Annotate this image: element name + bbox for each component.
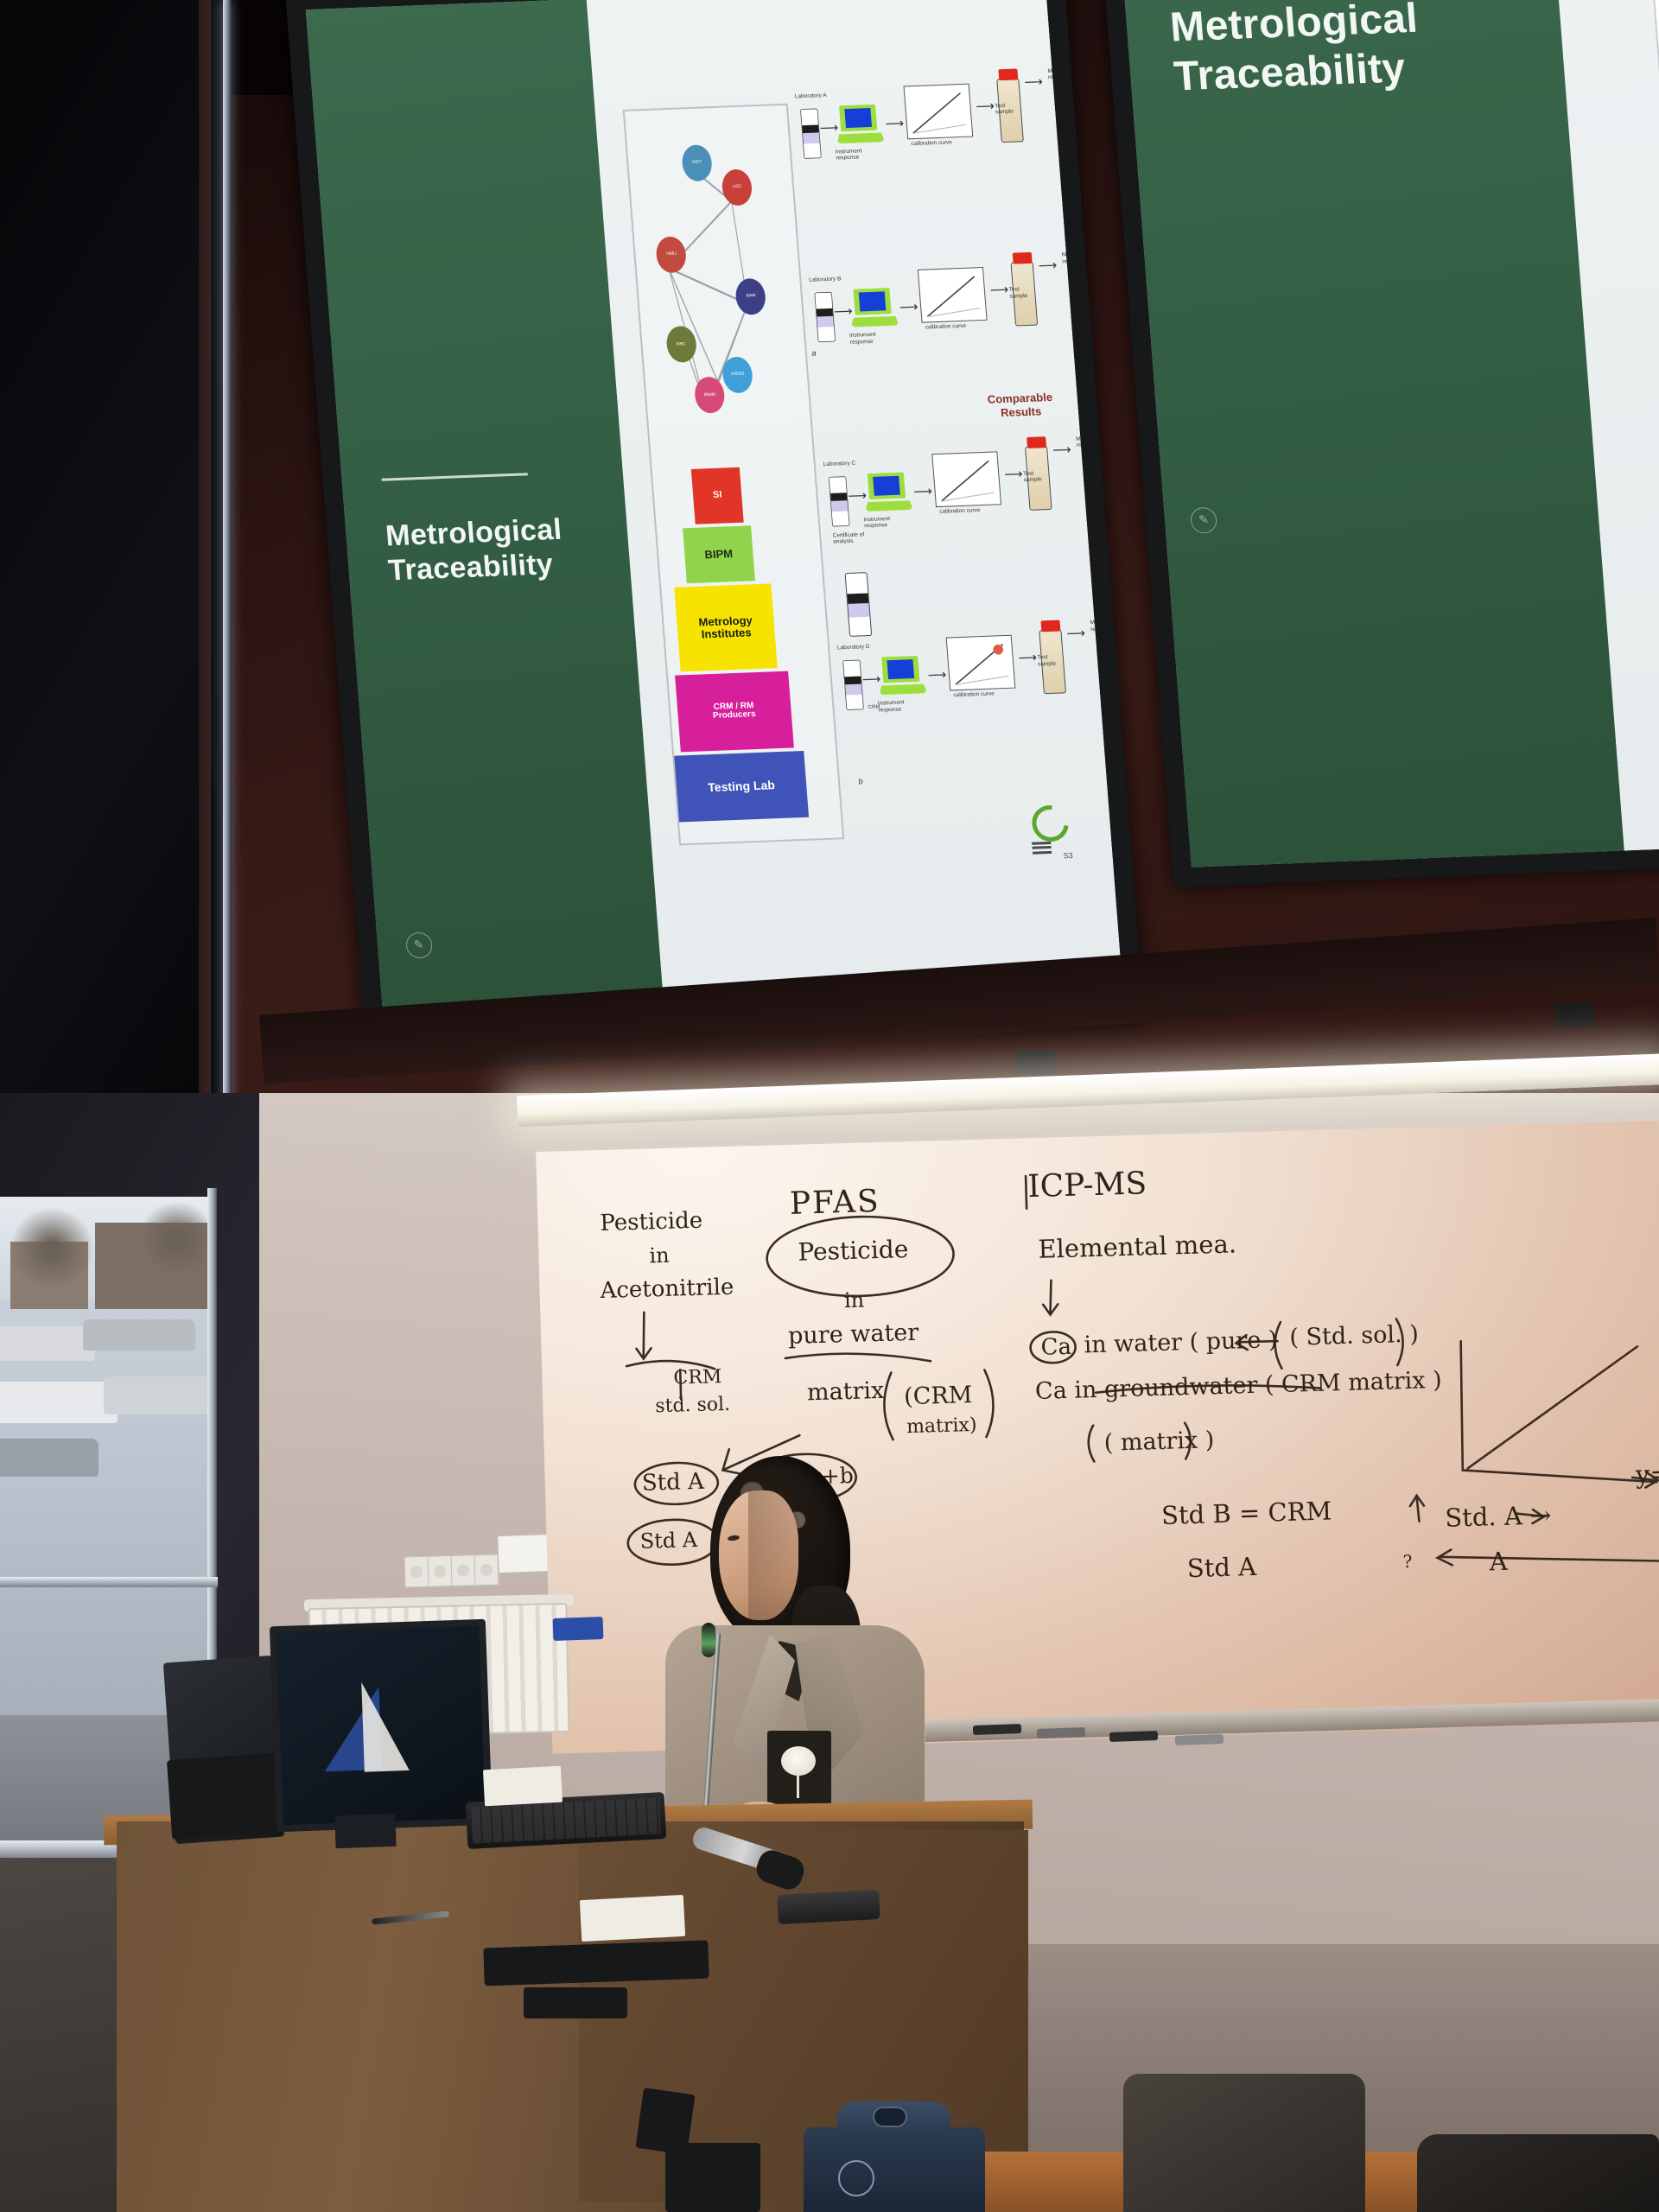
instrument-laptop: [878, 656, 925, 696]
slide-title-rule: [381, 473, 527, 480]
parked-car: [0, 1439, 99, 1477]
photo-scene: Metrological Traceability ✎: [0, 0, 1659, 2212]
test-sample-label: Test sample: [1009, 286, 1039, 300]
parked-car: [83, 1319, 195, 1351]
calibration-curve-label: calibration curve: [939, 506, 992, 515]
paper-sheet: [580, 1895, 685, 1942]
arrow-icon: ⟶: [1038, 259, 1058, 273]
instrument-laptop: [836, 104, 883, 143]
slide-diagram-area: NIST LGC NMIJ BAM NRC IRMM KRISS SI BIPM…: [587, 0, 1124, 1020]
parked-car: [0, 1326, 95, 1361]
comparable-results-callout: Comparable Results: [981, 391, 1060, 421]
arrow-icon: ⟶: [976, 99, 995, 113]
tree: [0, 1202, 104, 1297]
paper-sheet: [483, 1766, 563, 1807]
wall-label-sign: [497, 1534, 553, 1573]
arrow-icon: ⟶: [1066, 627, 1086, 641]
whiteboard-marker[interactable]: [973, 1724, 1021, 1735]
parked-car: [0, 1382, 118, 1423]
instrument-laptop: [849, 288, 897, 327]
whiteboard-marker[interactable]: [1037, 1727, 1085, 1738]
face-shading: [748, 1491, 800, 1620]
lab-label: Laboratory B: [809, 276, 842, 284]
slide-right: Metrological Traceability ✎ Testing Lab: [1116, 0, 1659, 868]
lab-sample-vial: [829, 476, 850, 526]
arrow-icon: ⟶: [1018, 652, 1038, 665]
instrument-response-label: instrument response: [878, 699, 927, 714]
arrow-icon: ⟶: [913, 485, 933, 499]
arrow-icon: ⟶: [1004, 467, 1024, 481]
slide-title-right: Metrological Traceability: [1168, 0, 1423, 102]
window-upper-glass: [0, 0, 200, 1162]
logo-caption: S3: [1063, 851, 1073, 860]
slide-green-band-right: Metrological Traceability ✎: [1116, 0, 1624, 868]
presenter-remote[interactable]: [777, 1890, 880, 1924]
lab-flow-row: Laboratory D ⟶ instrument response ⟶ cal…: [837, 614, 1102, 728]
presentation-logo-icon: S3: [1031, 804, 1070, 842]
pyramid-level-crm-producers: CRM / RM Producers: [675, 671, 794, 753]
lab-sample-vial: [842, 660, 864, 710]
arrow-icon: ⟶: [899, 301, 918, 315]
traceability-pyramid-right: Testing Lab: [1645, 0, 1659, 455]
pyramid-level-testing-lab: Testing Lab: [674, 751, 809, 822]
nmi-network-graph: NIST LGC NMIJ BAM NRC IRMM KRISS: [640, 136, 801, 463]
test-sample-label: Test sample: [1023, 470, 1053, 484]
whiteboard-marker[interactable]: [1109, 1731, 1158, 1742]
arrow-icon: ⟶: [1024, 75, 1044, 89]
lab-flow-row: Laboratory A ⟶ instrument response ⟶ cal…: [795, 63, 1059, 176]
radiator-blue-object: [553, 1617, 604, 1641]
university-seal-icon: [838, 2160, 874, 2196]
pyramid-level-metrology-institutes: Metrology Institutes: [674, 583, 778, 671]
chair[interactable]: [1417, 2134, 1659, 2212]
pyramid-level-bipm: BIPM: [683, 525, 754, 583]
slide-left: Metrological Traceability ✎: [306, 0, 1124, 1032]
fig-letter-b: b: [858, 778, 863, 786]
conference-microphone-button[interactable]: [873, 2107, 907, 2127]
microphone-head: [702, 1623, 715, 1657]
parked-car: [104, 1376, 216, 1414]
instrument-response-label: instrument response: [836, 147, 885, 162]
arrow-icon: ⟶: [885, 117, 905, 130]
lab-flow-row: Laboratory B ⟶ instrument response ⟶ cal…: [809, 247, 1073, 360]
lab-label: Laboratory D: [837, 644, 870, 652]
pyramid-level-si: SI: [691, 467, 744, 524]
screen-mount: [1016, 1051, 1056, 1075]
traceability-pyramid: NIST LGC NMIJ BAM NRC IRMM KRISS SI BIPM…: [623, 104, 845, 846]
slide-page-badge-right: ✎: [1190, 506, 1217, 533]
device: [524, 1987, 627, 2018]
test-sample-label: Test sample: [1037, 654, 1067, 668]
calibration-curve-label: calibration curve: [911, 139, 963, 148]
tree: [130, 1197, 216, 1283]
calibration-curve-label: calibration curve: [925, 323, 978, 332]
lab-flow-row: Laboratory C ⟶ instrument response ⟶ cal…: [823, 430, 1088, 543]
arrow-icon: ⟶: [1052, 443, 1072, 457]
calibration-curve-label: calibration curve: [953, 690, 1006, 699]
foreground-equipment: [635, 2088, 695, 2155]
lab-label: Laboratory A: [795, 92, 827, 100]
slide-page-badge: ✎: [405, 932, 433, 959]
test-sample-label: Test sample: [995, 102, 1025, 116]
arrow-icon: ⟶: [989, 283, 1009, 297]
screen-mount: [1555, 1002, 1595, 1027]
instrument-response-label: instrument response: [863, 515, 912, 530]
whiteboard-marker[interactable]: [1175, 1734, 1224, 1745]
window-mullion: [223, 0, 231, 1162]
conference-microphone-unit[interactable]: [804, 2127, 985, 2212]
calibration-curve-plot: [945, 635, 1015, 691]
arrow-icon: ⟶: [927, 669, 947, 683]
window-transom: [0, 1577, 218, 1587]
cable-bundle: [483, 1940, 709, 1986]
lab-sample-vial: [814, 292, 836, 342]
slide-title-line2-right: Traceability: [1173, 44, 1424, 102]
window-upper-frame: [0, 0, 232, 1158]
slide-title-left: Metrological Traceability: [385, 512, 566, 588]
projection-screen-left: Metrological Traceability ✎: [285, 0, 1144, 1051]
flower-pin: [781, 1746, 816, 1796]
wall-power-sockets: [404, 1554, 500, 1587]
calibration-curve-plot: [931, 451, 1001, 507]
desktop-monitor[interactable]: [270, 1619, 493, 1833]
instrument-response-label: instrument response: [849, 331, 899, 346]
projection-screen-right: Metrological Traceability ✎ Testing Lab: [1096, 0, 1659, 887]
calibration-curve-plot: [903, 83, 973, 139]
chair[interactable]: [1123, 2074, 1365, 2212]
calibration-curve-plot: [918, 267, 988, 323]
slide-title-line2: Traceability: [387, 547, 566, 588]
lab-sample-vial: [800, 108, 822, 158]
instrument-laptop: [864, 472, 912, 512]
lab-label: Laboratory C: [823, 460, 855, 467]
monitor-stand: [334, 1814, 396, 1848]
